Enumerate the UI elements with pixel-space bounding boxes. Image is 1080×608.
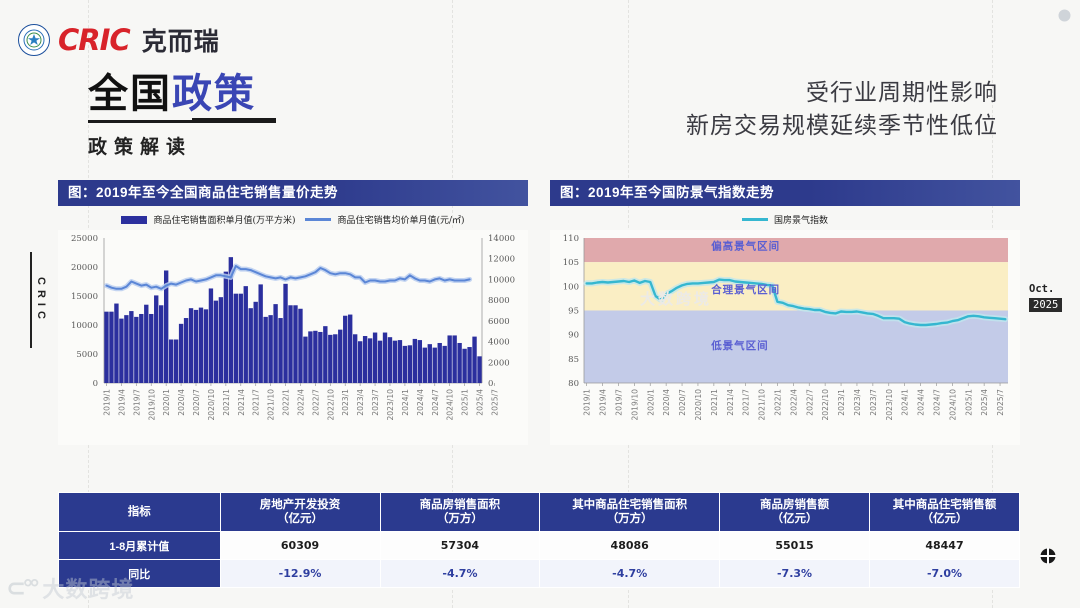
svg-text:2019/1: 2019/1 — [583, 389, 592, 416]
svg-text:10000: 10000 — [71, 321, 98, 331]
brand-logo-latin: CRIC — [58, 23, 130, 57]
svg-text:2024/10: 2024/10 — [948, 389, 957, 421]
table-row-1-cell-4: -7.0% — [869, 560, 1019, 588]
legend-label-price: 商品住宅销售均价单月值(元/㎡) — [337, 213, 464, 226]
svg-text:2024/4: 2024/4 — [917, 389, 926, 416]
table-row-1-cell-2: -4.7% — [540, 560, 720, 588]
table-col-4-l1: 商品房销售额 — [720, 498, 869, 512]
svg-text:10000: 10000 — [488, 275, 515, 285]
title-underline-accent — [192, 118, 276, 123]
date-badge-year: 2025 — [1029, 298, 1062, 312]
svg-text:80: 80 — [568, 379, 579, 389]
table-col-4: 商品房销售额 （亿元） — [720, 493, 870, 532]
right-chart-title: 图：2019年至今国防景气指数走势 — [550, 180, 1020, 206]
left-chart-panel: 图：2019年至今全国商品住宅销售量价走势 商品住宅销售面积单月值(万平方米) … — [58, 180, 528, 445]
brand-logo: CRIC 克而瑞 — [18, 22, 220, 58]
svg-text:0: 0 — [93, 379, 98, 389]
table-col-5-l1: 其中商品住宅销售额 — [870, 498, 1019, 512]
table-col-1-l1: 房地产开发投资 — [221, 498, 380, 512]
svg-text:2020/4: 2020/4 — [177, 389, 186, 416]
page-title: 全国政策 政策解读 — [88, 74, 276, 159]
table-row-0-cell-1: 57304 — [380, 532, 540, 560]
svg-text:2022/7: 2022/7 — [311, 389, 320, 416]
table-col-3-l1: 其中商品住宅销售面积 — [540, 498, 719, 512]
svg-text:2021/4: 2021/4 — [237, 389, 246, 416]
band-label-0: 偏高景气区间 — [711, 240, 780, 253]
legend-swatch-index-line — [742, 218, 768, 221]
svg-text:2023/4: 2023/4 — [356, 389, 365, 416]
page-title-part2: 政策 — [172, 72, 256, 116]
svg-text:2024/4: 2024/4 — [416, 389, 425, 416]
svg-text:2025/4: 2025/4 — [476, 389, 485, 416]
svg-text:2024/10: 2024/10 — [446, 389, 455, 421]
svg-text:100: 100 — [563, 282, 579, 292]
svg-text:8000: 8000 — [488, 296, 510, 306]
table-row-1-cell-1: -4.7% — [380, 560, 540, 588]
svg-text:2022/10: 2022/10 — [326, 389, 335, 421]
svg-text:2025/1: 2025/1 — [964, 389, 973, 416]
svg-text:2024/1: 2024/1 — [901, 389, 910, 416]
svg-text:2024/1: 2024/1 — [401, 389, 410, 416]
legend-swatch-bar — [121, 216, 147, 224]
svg-text:2025/7: 2025/7 — [490, 389, 499, 416]
svg-text:14000: 14000 — [488, 234, 515, 244]
svg-text:2019/7: 2019/7 — [132, 389, 141, 416]
svg-text:0: 0 — [488, 379, 493, 389]
svg-text:2023/7: 2023/7 — [869, 389, 878, 416]
registration-mark-icon — [1040, 548, 1056, 564]
svg-text:2021/10: 2021/10 — [758, 389, 767, 421]
svg-text:2021/10: 2021/10 — [267, 389, 276, 421]
legend-label-index: 国房景气指数 — [774, 213, 828, 226]
corner-dot-icon — [1058, 9, 1071, 22]
svg-text:110: 110 — [563, 234, 579, 244]
svg-text:2021/1: 2021/1 — [222, 389, 231, 416]
watermark-bottom-left: ⊂°° 大数跨境 — [6, 572, 134, 604]
svg-text:2023/10: 2023/10 — [386, 389, 395, 421]
table-header-row: 指标 房地产开发投资 （亿元） 商品房销售面积 （万方） 其中商品住宅销售面积 … — [59, 493, 1020, 532]
table-col-2-l1: 商品房销售面积 — [381, 498, 540, 512]
svg-text:2019/10: 2019/10 — [630, 389, 639, 421]
svg-text:2022/1: 2022/1 — [282, 389, 291, 416]
svg-text:2021/1: 2021/1 — [710, 389, 719, 416]
left-chart-legend: 商品住宅销售面积单月值(万平方米) 商品住宅销售均价单月值(元/㎡) — [58, 213, 528, 226]
summary-table: 指标 房地产开发投资 （亿元） 商品房销售面积 （万方） 其中商品住宅销售面积 … — [58, 492, 1020, 588]
svg-text:2024/7: 2024/7 — [932, 389, 941, 416]
watermark-center: 大数跨境 — [640, 288, 712, 309]
table-row-0-cell-2: 48086 — [540, 532, 720, 560]
brand-logo-cn: 克而瑞 — [142, 22, 220, 58]
right-chart-legend: 国房景气指数 — [550, 213, 1020, 226]
svg-text:2020/7: 2020/7 — [192, 389, 201, 416]
band-label-2: 低景气区间 — [710, 339, 769, 352]
svg-text:2021/7: 2021/7 — [742, 389, 751, 416]
right-chart-panel: 图：2019年至今国防景气指数走势 国房景气指数 808590951001051… — [550, 180, 1020, 445]
svg-text:85: 85 — [568, 355, 579, 365]
right-chart-svg: 80859095100105110偏高景气区间合理景气区间低景气区间2019/1… — [550, 230, 1020, 445]
table-col-2-l2: （万方） — [381, 512, 540, 526]
svg-text:2022/4: 2022/4 — [296, 389, 305, 416]
cric-vertical-watermark: CRIC — [30, 252, 47, 348]
svg-text:2020/10: 2020/10 — [207, 389, 216, 421]
table-row-1-cell-3: -7.3% — [720, 560, 870, 588]
svg-text:25000: 25000 — [71, 234, 98, 244]
cric-vertical-watermark-text: CRIC — [35, 277, 47, 324]
legend-label-area: 商品住宅销售面积单月值(万平方米) — [153, 213, 295, 226]
svg-text:2023/1: 2023/1 — [837, 389, 846, 416]
watermark-bottom-left-text: 大数跨境 — [42, 572, 134, 604]
date-badge: Oct. 2025 — [1029, 283, 1062, 313]
svg-text:5000: 5000 — [76, 350, 98, 360]
table-col-0-l1: 指标 — [59, 505, 220, 519]
page-title-part1: 全国 — [88, 72, 172, 116]
svg-text:2022/7: 2022/7 — [805, 389, 814, 416]
watermark-logo-icon: ⊂°° — [6, 574, 36, 603]
table-col-1-l2: （亿元） — [221, 512, 380, 526]
right-chart-plot: 80859095100105110偏高景气区间合理景气区间低景气区间2019/1… — [550, 230, 1020, 445]
table-row: 1-8月累计值 60309 57304 48086 55015 48447 — [59, 532, 1020, 560]
left-chart-title: 图：2019年至今全国商品住宅销售量价走势 — [58, 180, 528, 206]
svg-text:2024/7: 2024/7 — [431, 389, 440, 416]
table-row-1-cell-0: -12.9% — [220, 560, 380, 588]
svg-text:2019/4: 2019/4 — [117, 389, 126, 416]
svg-text:2020/1: 2020/1 — [646, 389, 655, 416]
svg-text:2025/1: 2025/1 — [461, 389, 470, 416]
svg-text:2023/10: 2023/10 — [885, 389, 894, 421]
headline: 受行业周期性影响 新房交易规模延续季节性低位 — [686, 76, 998, 143]
headline-line-1: 受行业周期性影响 — [686, 76, 998, 109]
svg-text:2020/7: 2020/7 — [678, 389, 687, 416]
svg-text:12000: 12000 — [488, 255, 515, 265]
table-col-4-l2: （亿元） — [720, 512, 869, 526]
svg-text:2020/1: 2020/1 — [162, 389, 171, 416]
svg-text:2000: 2000 — [488, 358, 510, 368]
svg-text:105: 105 — [563, 258, 579, 268]
svg-text:2023/4: 2023/4 — [853, 389, 862, 416]
left-chart-svg: 0500010000150002000025000020004000600080… — [58, 230, 528, 445]
table-row-0-label: 1-8月累计值 — [59, 532, 221, 560]
svg-text:2022/1: 2022/1 — [773, 389, 782, 416]
table-row-0-cell-0: 60309 — [220, 532, 380, 560]
svg-text:2020/10: 2020/10 — [694, 389, 703, 421]
svg-text:95: 95 — [568, 307, 579, 317]
svg-text:2020/4: 2020/4 — [662, 389, 671, 416]
legend-swatch-line — [305, 218, 331, 221]
table-col-1: 房地产开发投资 （亿元） — [220, 493, 380, 532]
svg-text:15000: 15000 — [71, 292, 98, 302]
headline-line-2: 新房交易规模延续季节性低位 — [686, 109, 998, 142]
table-col-3-l2: （万方） — [540, 512, 719, 526]
table-col-0: 指标 — [59, 493, 221, 532]
page-subtitle: 政策解读 — [88, 132, 276, 159]
svg-text:90: 90 — [568, 331, 579, 341]
svg-text:2025/7: 2025/7 — [996, 389, 1005, 416]
svg-text:4000: 4000 — [488, 338, 510, 348]
svg-text:2022/4: 2022/4 — [789, 389, 798, 416]
svg-text:20000: 20000 — [71, 263, 98, 273]
svg-text:2019/1: 2019/1 — [102, 389, 111, 416]
table-col-2: 商品房销售面积 （万方） — [380, 493, 540, 532]
table-col-5-l2: （亿元） — [870, 512, 1019, 526]
band-label-1: 合理景气区间 — [710, 283, 780, 296]
svg-text:2023/1: 2023/1 — [341, 389, 350, 416]
table-row: 同比 -12.9% -4.7% -4.7% -7.3% -7.0% — [59, 560, 1020, 588]
table-row-0-cell-3: 55015 — [720, 532, 870, 560]
svg-text:2019/4: 2019/4 — [599, 389, 608, 416]
svg-text:2023/7: 2023/7 — [371, 389, 380, 416]
table-row-0-cell-4: 48447 — [869, 532, 1019, 560]
svg-text:2025/4: 2025/4 — [980, 389, 989, 416]
svg-text:6000: 6000 — [488, 317, 510, 327]
svg-text:2019/7: 2019/7 — [614, 389, 623, 416]
table-col-3: 其中商品住宅销售面积 （万方） — [540, 493, 720, 532]
star-seal-icon — [18, 24, 50, 56]
date-badge-month: Oct. — [1029, 283, 1062, 295]
table-col-5: 其中商品住宅销售额 （亿元） — [869, 493, 1019, 532]
svg-text:2021/4: 2021/4 — [726, 389, 735, 416]
svg-text:2021/7: 2021/7 — [252, 389, 261, 416]
svg-text:2019/10: 2019/10 — [147, 389, 156, 421]
svg-text:2022/10: 2022/10 — [821, 389, 830, 421]
left-chart-plot: 0500010000150002000025000020004000600080… — [58, 230, 528, 445]
